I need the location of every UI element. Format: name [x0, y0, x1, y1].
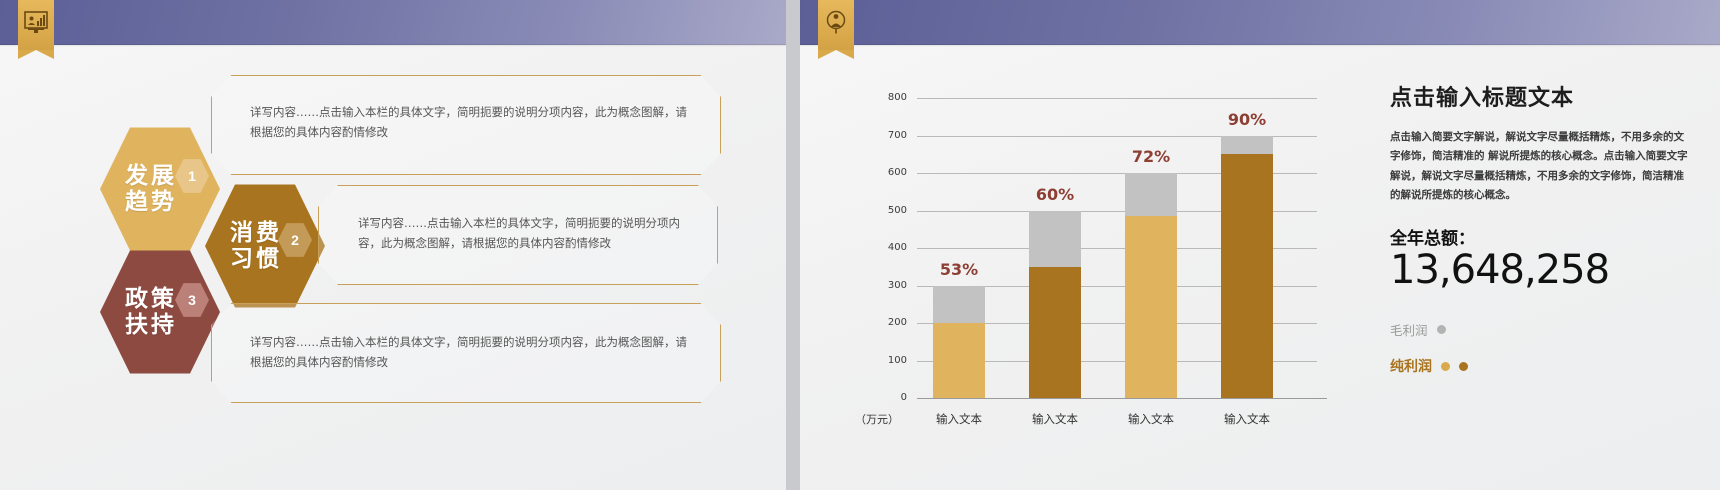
legend-item-net-profit[interactable]: 纯利润	[1390, 356, 1468, 376]
slide-left-header-band	[0, 0, 786, 45]
panel-title: 点击输入标题文本	[1390, 80, 1690, 112]
bar-segment-gross-profit[interactable]	[1029, 211, 1081, 267]
panel-body-text: 点击输入简要文字解说，解说文字尽量概括精炼，不用多余的文字修饰，简洁精准的 解说…	[1390, 128, 1690, 206]
bar-segment-net-profit[interactable]	[1029, 267, 1081, 398]
y-axis-tick-label: 400	[855, 242, 907, 253]
x-axis-category-label: 输入文本	[1202, 411, 1292, 427]
callout-text-1: 详写内容……点击输入本栏的具体文字，简明扼要的说明分项内容，此为概念图解，请根据…	[250, 102, 690, 142]
bar-segment-gross-profit[interactable]	[1221, 136, 1273, 155]
header-shadow	[0, 44, 786, 47]
y-axis-tick-label: 0	[855, 392, 907, 403]
y-axis-tick-label: 600	[855, 167, 907, 178]
stacked-bar-chart: 010020030040050060070080053%输入文本60%输入文本7…	[855, 70, 1355, 420]
bar-data-label: 72%	[1111, 147, 1191, 166]
bar-data-label: 60%	[1015, 185, 1095, 204]
legend-dot-gross	[1437, 325, 1446, 334]
total-amount-value: 13,648,258	[1390, 249, 1690, 291]
slide-right: 010020030040050060070080053%输入文本60%输入文本7…	[800, 0, 1720, 490]
slide-right-header-band	[800, 0, 1720, 45]
legend-item-gross-profit[interactable]: 毛利润	[1390, 320, 1446, 339]
presentation-stage: 发展趋势 1 消费习惯 2 政策扶持 3 详写内容……点击输入本栏的具体文字，简…	[0, 0, 1720, 490]
slide-divider	[786, 0, 800, 490]
bar-segment-gross-profit[interactable]	[1125, 173, 1177, 216]
legend-label-gross: 毛利润	[1390, 320, 1428, 339]
hexagon-label-1: 发展趋势	[125, 163, 177, 215]
hexagon-label-3: 政策扶持	[125, 286, 177, 338]
bar-segment-net-profit[interactable]	[933, 323, 985, 398]
y-axis-tick-label: 100	[855, 355, 907, 366]
callout-text-2: 详写内容……点击输入本栏的具体文字，简明扼要的说明分项内容，此为概念图解，请根据…	[358, 213, 688, 253]
legend-dot-net	[1441, 362, 1450, 371]
y-axis-tick-label: 500	[855, 205, 907, 216]
chart-baseline	[917, 398, 1327, 399]
x-axis-category-label: 输入文本	[914, 411, 1004, 427]
callout-text-3: 详写内容……点击输入本栏的具体文字，简明扼要的说明分项内容，此为概念图解，请根据…	[250, 332, 690, 372]
bar-segment-net-profit[interactable]	[1125, 216, 1177, 398]
y-axis-tick-label: 800	[855, 92, 907, 103]
x-axis-category-label: 输入文本	[1010, 411, 1100, 427]
y-axis-tick-label: 200	[855, 317, 907, 328]
bar-segment-net-profit[interactable]	[1221, 154, 1273, 398]
bar-data-label: 90%	[1207, 110, 1287, 129]
legend-label-net: 纯利润	[1390, 356, 1432, 376]
x-axis-unit-label: （万元）	[855, 411, 899, 427]
hexagon-label-2: 消费习惯	[230, 220, 282, 272]
slide-left: 发展趋势 1 消费习惯 2 政策扶持 3 详写内容……点击输入本栏的具体文字，简…	[0, 0, 786, 490]
x-axis-category-label: 输入文本	[1106, 411, 1196, 427]
person-target-icon	[818, 0, 854, 50]
text-panel: 点击输入标题文本 点击输入简要文字解说，解说文字尽量概括精炼，不用多余的文字修饰…	[1390, 80, 1690, 291]
presentation-chart-icon	[18, 0, 54, 50]
bar-segment-gross-profit[interactable]	[933, 286, 985, 324]
bar-data-label: 53%	[919, 260, 999, 279]
total-amount-label: 全年总额：	[1390, 224, 1690, 249]
y-axis-tick-label: 300	[855, 280, 907, 291]
legend-dot-net-2	[1459, 362, 1468, 371]
y-axis-tick-label: 700	[855, 130, 907, 141]
chart-gridline	[917, 98, 1317, 99]
header-shadow-right	[800, 44, 1720, 47]
